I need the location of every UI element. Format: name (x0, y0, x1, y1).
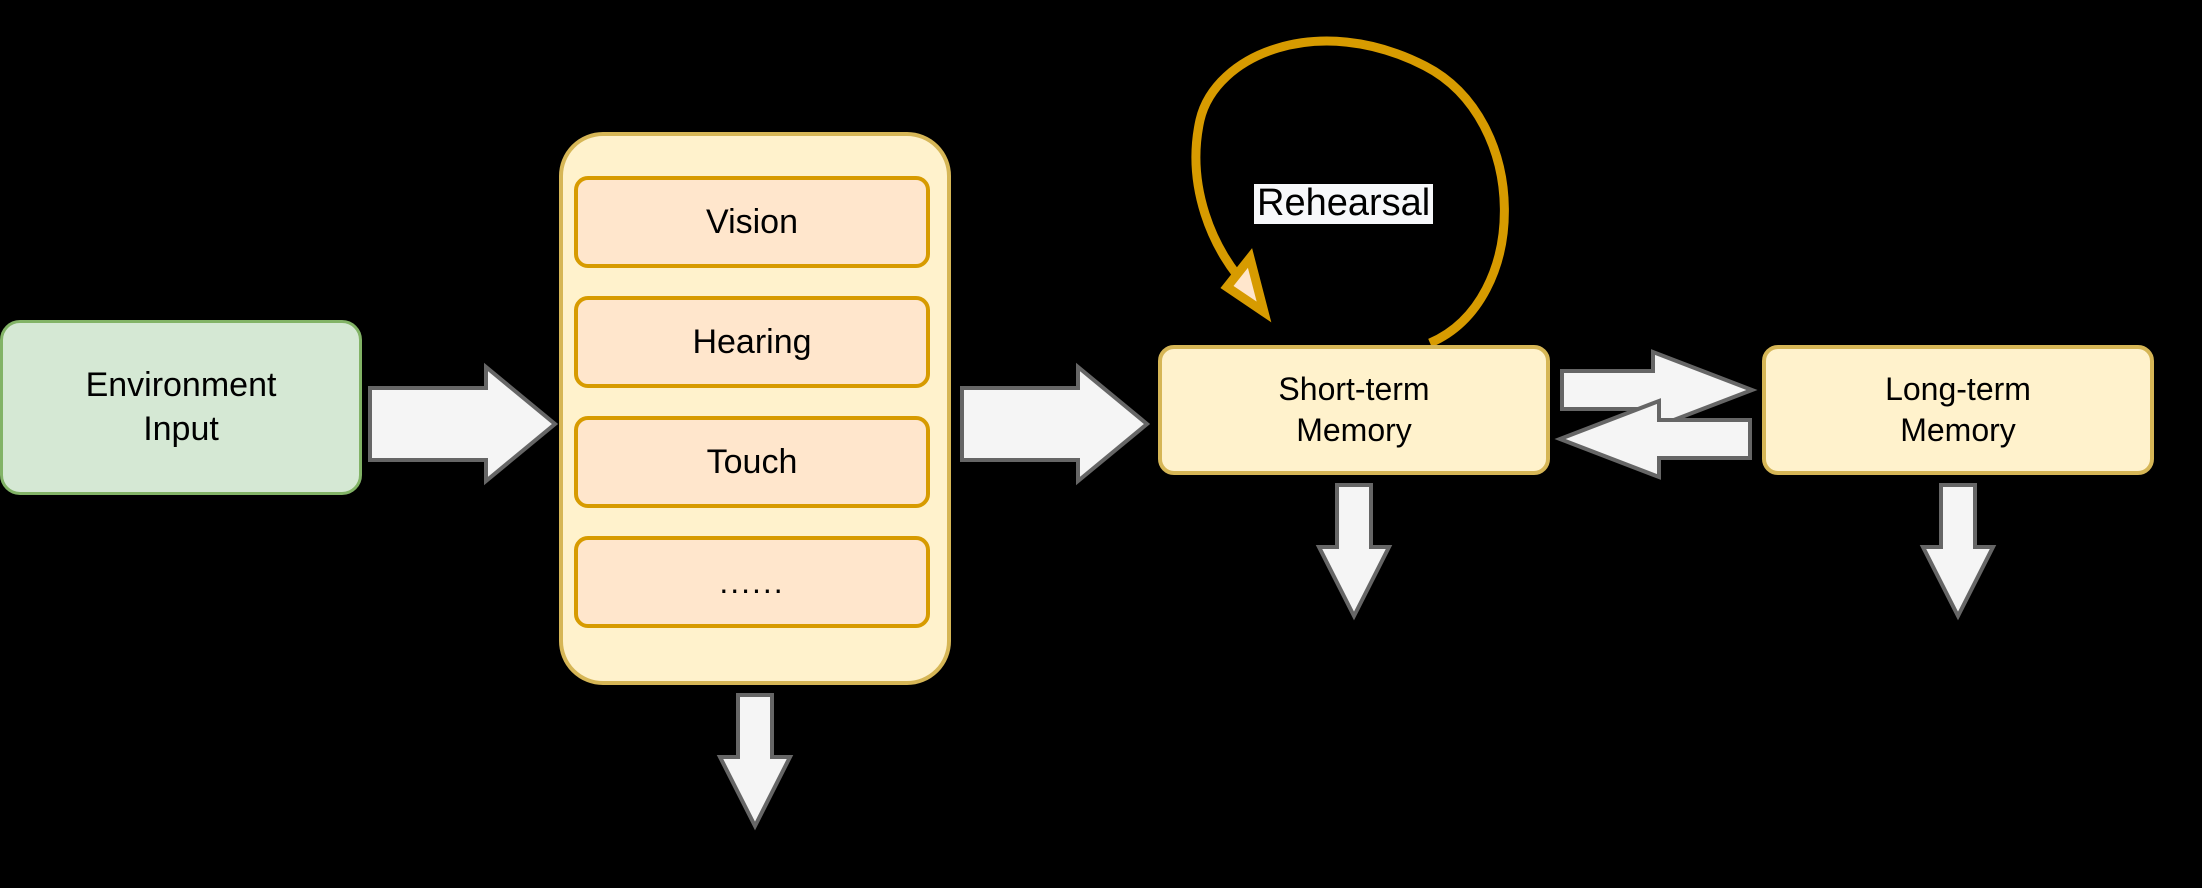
edge-label-rehearsal: Rehearsal (1254, 184, 1433, 224)
arrow-ltm-decay (1923, 485, 1993, 616)
diagram-canvas: Environment Input Vision Hearing Touch .… (0, 0, 2202, 888)
node-sense-vision[interactable]: Vision (574, 176, 930, 268)
node-sense-hearing[interactable]: Hearing (574, 296, 930, 388)
sense-ellipsis-label: ...... (719, 564, 784, 601)
arrow-sensory-decay (720, 695, 790, 826)
arrow-env-to-sensory (370, 367, 555, 481)
arrow-sensory-to-stm (962, 367, 1147, 481)
arrow-stm-to-ltm (1562, 352, 1752, 428)
sense-vision-label: Vision (706, 203, 798, 242)
node-short-term-memory[interactable]: Short-term Memory (1158, 345, 1550, 475)
arrow-stm-decay (1319, 485, 1389, 616)
node-environment-input[interactable]: Environment Input (0, 320, 362, 495)
node-sense-ellipsis[interactable]: ...... (574, 536, 930, 628)
arrow-ltm-to-stm (1560, 401, 1750, 477)
sense-touch-label: Touch (707, 443, 798, 482)
sense-hearing-label: Hearing (692, 323, 811, 362)
node-long-term-memory[interactable]: Long-term Memory (1762, 345, 2154, 475)
node-sense-touch[interactable]: Touch (574, 416, 930, 508)
